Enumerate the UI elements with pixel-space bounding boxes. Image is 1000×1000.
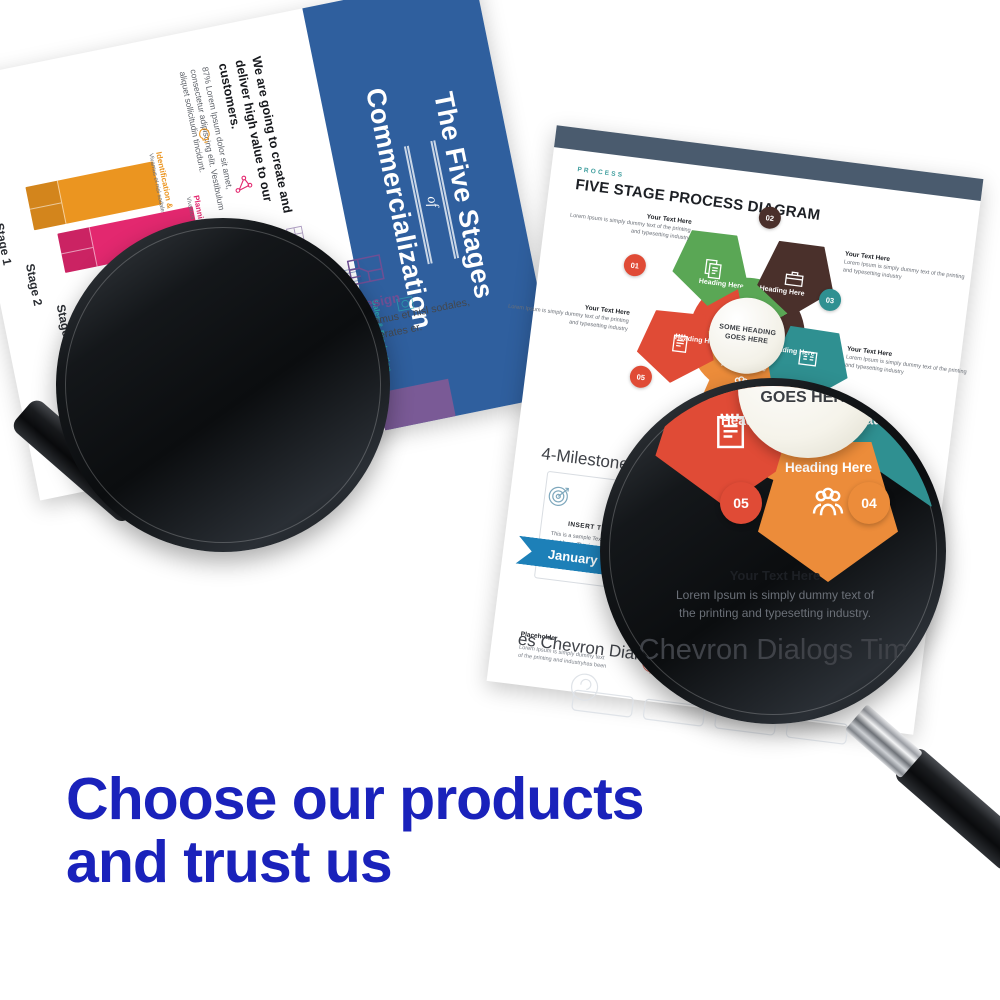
- mag-petal-bottom-label: Heading Here: [784, 460, 871, 475]
- network-nodes-icon: [229, 172, 257, 198]
- stage-label-2: Stage 2: [23, 262, 45, 307]
- headline-line-1: Choose our products: [66, 768, 826, 831]
- bulb-icon: [193, 125, 217, 149]
- mag-caption-line2: the printing and typesetting industry.: [650, 604, 900, 622]
- mag-browser-wrench-icon: [140, 268, 206, 318]
- petal-number-01: 01: [623, 253, 648, 278]
- mag-card-sales-title: Sales & Production: [232, 230, 372, 288]
- mag-bottom-title: es Chevron Dialogs Timeline Te: [608, 634, 938, 667]
- mag-hub-label: SOME HEADING GOES HERE: [738, 386, 878, 409]
- mag-caption: Your Text Here Lorem Ipsum is simply dum…: [650, 568, 900, 622]
- stage-label-1: Stage 1: [0, 222, 14, 267]
- mag-people-group-icon: [805, 482, 851, 524]
- mag-column-bar-build-test: [142, 406, 212, 544]
- mag-column-bar-design-left: [64, 476, 88, 544]
- milestone-ribbon-label: January: [547, 546, 598, 567]
- mag-number-04: 04: [848, 482, 890, 524]
- petal-caption-02: Your Text Here Lorem Ipsum is simply dum…: [842, 250, 966, 289]
- petal-number-03: 03: [818, 288, 843, 313]
- mag-column-bar-sales: [230, 336, 300, 544]
- headline: Choose our products and trust us: [66, 768, 826, 894]
- mag-card-design-title: Design: [320, 390, 382, 419]
- target-arrow-icon: [544, 480, 575, 511]
- mag-column-bar-design-right: [322, 476, 382, 544]
- petal-caption-03: Your Text Here Lorem Ipsum is simply dum…: [844, 345, 968, 384]
- left-magnifier-lens: ign mus et nisl es, tes er. Build & Test…: [64, 226, 382, 544]
- documents-icon: [700, 256, 727, 281]
- mag-caption-line1: Lorem Ipsum is simply dummy text of: [650, 586, 900, 604]
- mag-ghost-process-row: [654, 682, 924, 716]
- headline-line-2: and trust us: [66, 831, 826, 894]
- petal-caption-01: Your Text Here Lorem Ipsum is simply dum…: [568, 204, 692, 243]
- right-magnifier-lens: Here text of industry. Heading Here Head…: [608, 386, 938, 716]
- hub-label: SOME HEADING GOES HERE: [708, 322, 786, 349]
- mag-number-05: 05: [720, 482, 762, 524]
- mag-caption-title: Your Text Here: [650, 568, 900, 583]
- poster-canvas: The Five Stages of Commercialization We …: [0, 0, 1000, 1000]
- mag-grid-sketch-icon-right: [320, 342, 378, 386]
